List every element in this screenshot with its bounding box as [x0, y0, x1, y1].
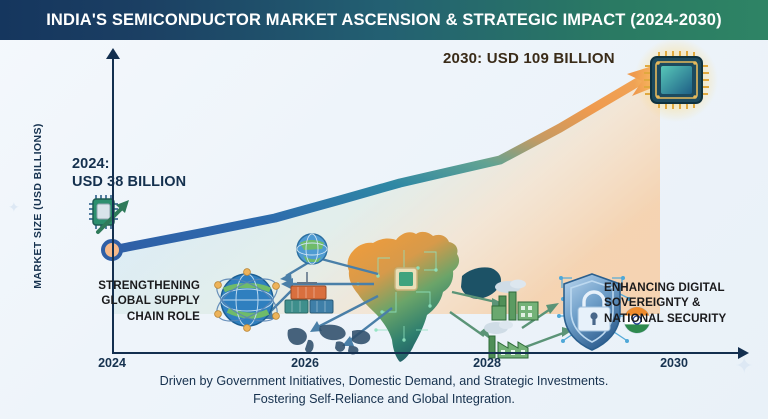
page-title: INDIA'S SEMICONDUCTOR MARKET ASCENSION &…	[46, 11, 722, 30]
header-banner: INDIA'S SEMICONDUCTOR MARKET ASCENSION &…	[0, 0, 768, 40]
caption-supply-chain-line2: GLOBAL SUPPLY	[70, 293, 200, 308]
x-tick-2028: 2028	[473, 356, 501, 370]
callout-2024: 2024: USD 38 BILLION	[72, 156, 186, 191]
caption-digital-sovereignty-line2: SOVEREIGNTY &	[604, 295, 754, 310]
x-tick-2026: 2026	[291, 356, 319, 370]
chart-graphic	[0, 40, 768, 378]
y-axis-label: MARKET SIZE (USD BILLIONS)	[32, 106, 44, 306]
x-axis-line	[112, 352, 740, 354]
caption-digital-sovereignty-line1: ENHANCING DIGITAL	[604, 280, 754, 295]
footer-line-2: Fostering Self-Reliance and Global Integ…	[0, 390, 768, 408]
glowing-chip-icon	[634, 40, 718, 122]
caption-digital-sovereignty-line3: NATIONAL SECURITY	[604, 311, 754, 326]
x-tick-2030: 2030	[660, 356, 688, 370]
sparkle-decoration: ✦	[735, 355, 753, 377]
footer-line-1: Driven by Government Initiatives, Domest…	[0, 372, 768, 390]
infographic-root: INDIA'S SEMICONDUCTOR MARKET ASCENSION &…	[0, 0, 768, 419]
callout-2030: 2030: USD 109 BILLION	[443, 50, 615, 67]
caption-digital-sovereignty: ENHANCING DIGITAL SOVEREIGNTY & NATIONAL…	[604, 280, 754, 326]
chip-growth-icon	[89, 195, 129, 232]
world-map-icon	[288, 325, 371, 355]
x-tick-2024: 2024	[98, 356, 126, 370]
chart-area: MARKET SIZE (USD BILLIONS) 2024 2026 202…	[0, 40, 768, 378]
y-axis-arrow	[106, 48, 120, 59]
caption-supply-chain-line3: CHAIN ROLE	[70, 309, 200, 324]
caption-supply-chain: STRENGTHENING GLOBAL SUPPLY CHAIN ROLE	[70, 278, 200, 324]
sparkle-decoration-left: ✦	[8, 200, 20, 214]
callout-2024-value: USD 38 BILLION	[72, 174, 186, 192]
globe-icon	[297, 234, 327, 264]
footer-note: Driven by Government Initiatives, Domest…	[0, 372, 768, 409]
caption-supply-chain-line1: STRENGTHENING	[70, 278, 200, 293]
callout-2024-year: 2024:	[72, 156, 186, 174]
